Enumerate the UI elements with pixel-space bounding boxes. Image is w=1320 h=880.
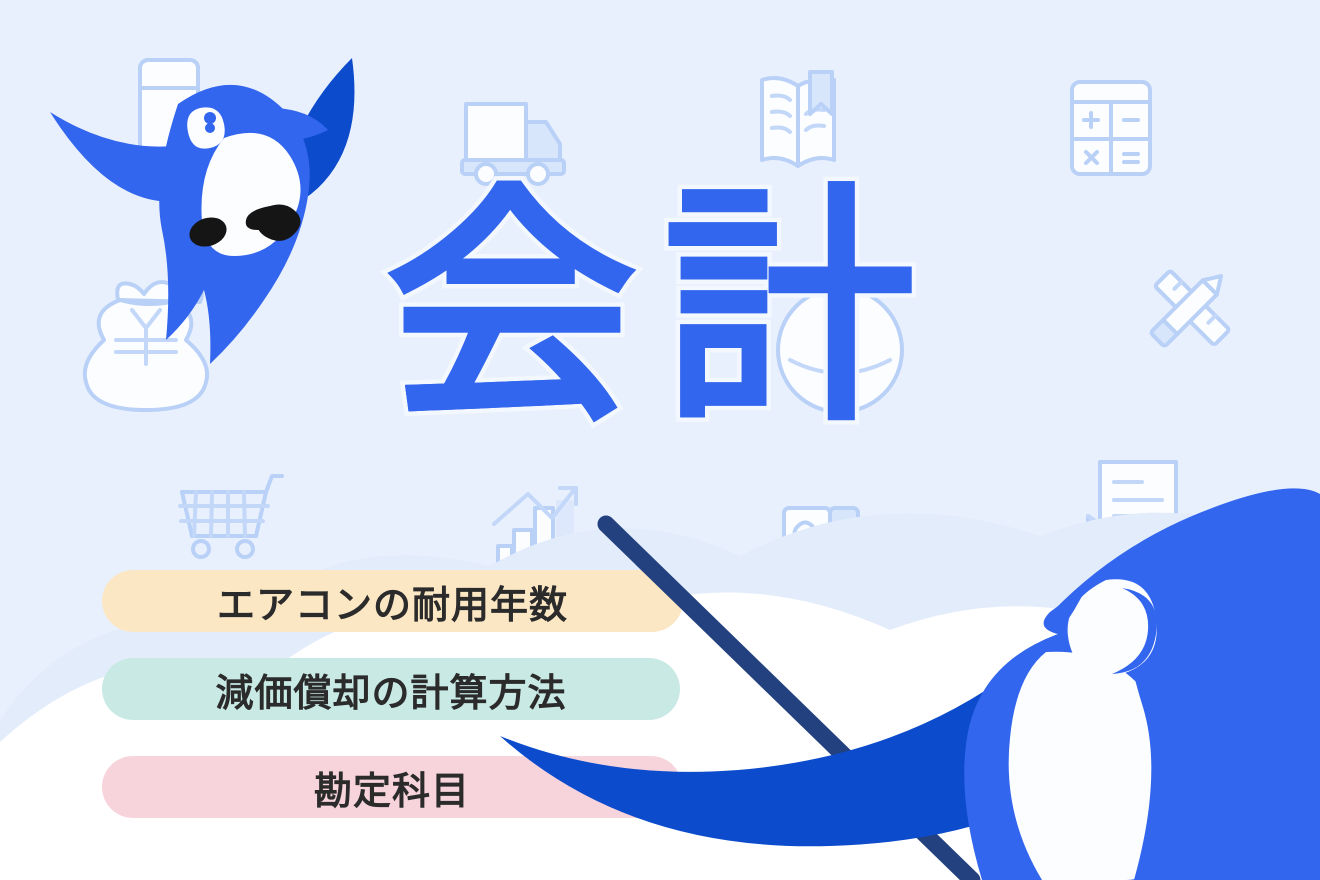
big-bird-mascot (0, 0, 1320, 880)
banner-canvas: .ln { fill:none; stroke:#b9d0f7; stroke-… (0, 0, 1320, 880)
